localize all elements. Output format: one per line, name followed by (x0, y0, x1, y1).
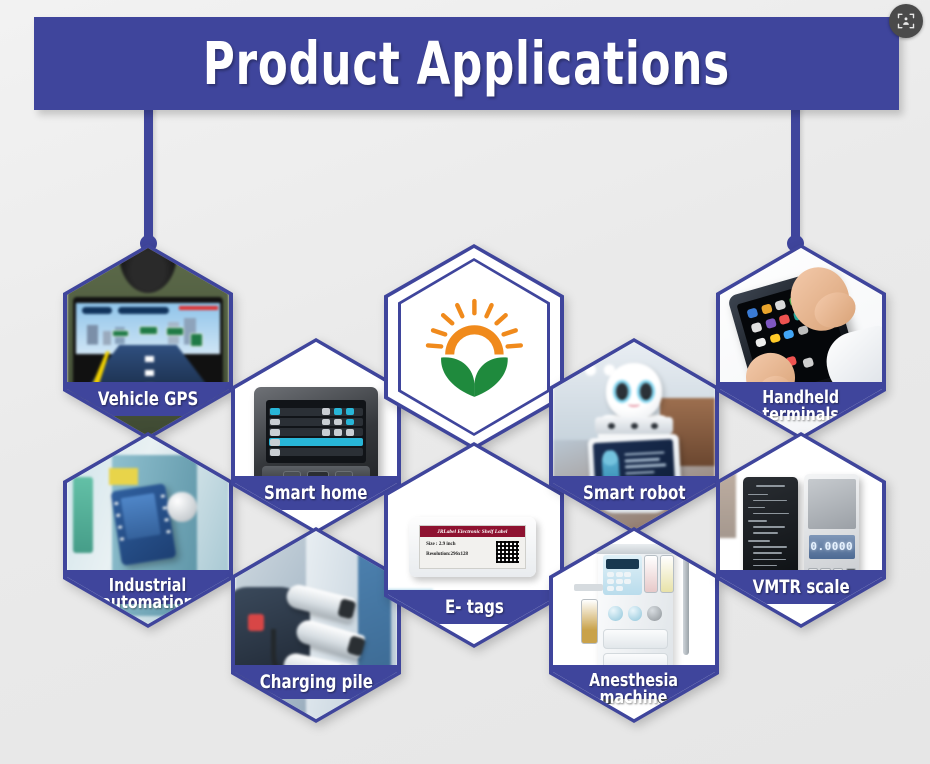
image-anesthesia-machine (553, 531, 715, 719)
hex-tile-vehicle-gps[interactable]: Vehicle GPS (63, 244, 233, 440)
image-smart-home (235, 342, 397, 530)
shelf-label-device: JRLabel Electronic Shelf Label Size : 2.… (409, 517, 536, 576)
hex-tile-smart-home[interactable]: Smart home (231, 338, 401, 534)
scan-translate-button[interactable] (889, 4, 923, 38)
image-charging-pile (235, 531, 397, 719)
hex-content: Smart robot (553, 342, 715, 530)
hex-content: JRLabel Electronic Shelf Label Size : 2.… (388, 446, 560, 644)
scale-display: 0.0000 (809, 535, 855, 559)
hex-tile-e-tags[interactable]: JRLabel Electronic Shelf Label Size : 2.… (384, 442, 564, 648)
image-vehicle-gps (67, 248, 229, 436)
hex-content: Handheld terminals (720, 248, 882, 436)
qr-code-icon (496, 541, 519, 563)
shelf-label-line2: Resolution:296x128 (426, 552, 468, 557)
hex-tile-charging-pile[interactable]: Charging pile (231, 527, 401, 723)
hex-content: Vehicle GPS (67, 248, 229, 436)
hex-tile-anesthesia-machine[interactable]: Anesthesia machine (549, 527, 719, 723)
user-manual-card (743, 477, 798, 579)
hex-content: Industrial automation (67, 436, 229, 624)
hexagon-grid: Vehicle GPS (0, 0, 930, 764)
hex-content: 0.0000 VMTR scale (720, 436, 882, 624)
image-e-tags: JRLabel Electronic Shelf Label Size : 2.… (388, 446, 560, 644)
shelf-label-header: JRLabel Electronic Shelf Label (420, 526, 525, 537)
page-title-banner: Product Applications (34, 17, 899, 110)
hex-content: Charging pile (235, 531, 397, 719)
hex-content: Anesthesia machine (553, 531, 715, 719)
hex-tile-logo (384, 244, 564, 450)
hex-tile-vmtr-scale[interactable]: 0.0000 VMTR scale (716, 432, 886, 628)
pocket-scale-device: 0.0000 (804, 474, 859, 583)
image-vmtr-scale: 0.0000 (720, 436, 882, 624)
sun-and-leaves-logo-icon (424, 298, 525, 401)
shelf-label-line1: Size : 2.9 inch (426, 542, 455, 547)
hex-content: Smart home (235, 342, 397, 530)
hex-tile-handheld-terminals[interactable]: Handheld terminals (716, 244, 886, 440)
image-handheld-terminals (720, 248, 882, 436)
scan-translate-icon (896, 11, 916, 31)
hex-tile-smart-robot[interactable]: Smart robot (549, 338, 719, 534)
hex-tile-industrial-automation[interactable]: Industrial automation (63, 432, 233, 628)
image-smart-robot (553, 342, 715, 530)
page-title: Product Applications (203, 29, 730, 98)
image-industrial-automation (67, 436, 229, 624)
